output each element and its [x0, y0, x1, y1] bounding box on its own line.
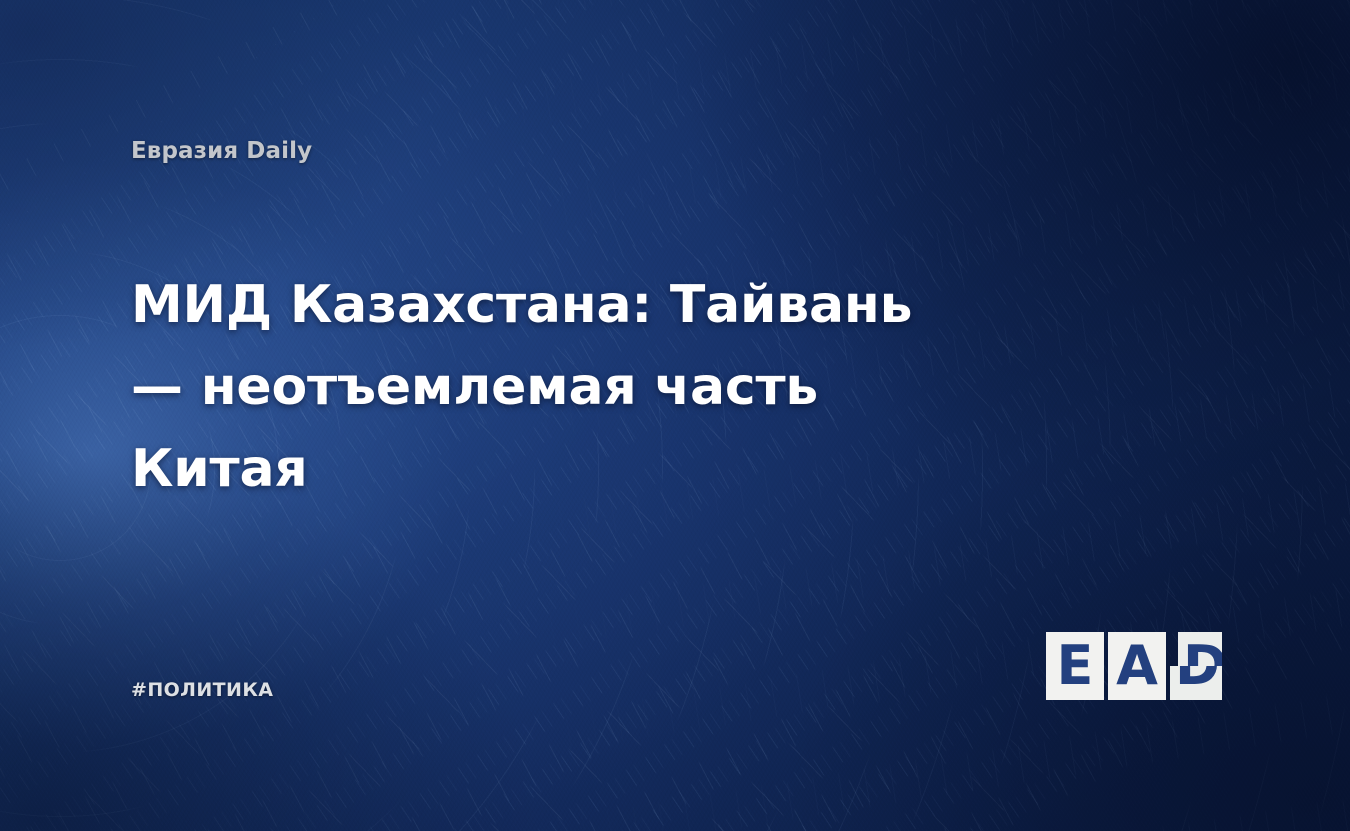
card-content: Евразия Daily МИД Казахстана: Тайвань — …: [0, 0, 1350, 831]
logo-letter-d-bottom-half: D: [1170, 666, 1222, 700]
logo-letter-e: E: [1046, 632, 1104, 700]
news-share-card: Евразия Daily МИД Казахстана: Тайвань — …: [0, 0, 1350, 831]
eadaily-logo: E A D D: [1046, 632, 1224, 702]
logo-letter-d-top-half: D: [1178, 632, 1222, 666]
logo-letter-d-upper: D: [1183, 632, 1222, 666]
category-tag: #ПОЛИТИКА: [131, 679, 273, 701]
logo-tile-d: D D: [1170, 632, 1222, 700]
site-name: Евразия Daily: [131, 138, 312, 164]
logo-tile-a: A: [1108, 632, 1166, 700]
page-title: МИД Казахстана: Тайвань — неотъемлемая ч…: [131, 264, 961, 510]
logo-letter-a: A: [1108, 632, 1166, 700]
logo-letter-d-lower: D: [1175, 666, 1222, 700]
logo-tile-e: E: [1046, 632, 1104, 700]
